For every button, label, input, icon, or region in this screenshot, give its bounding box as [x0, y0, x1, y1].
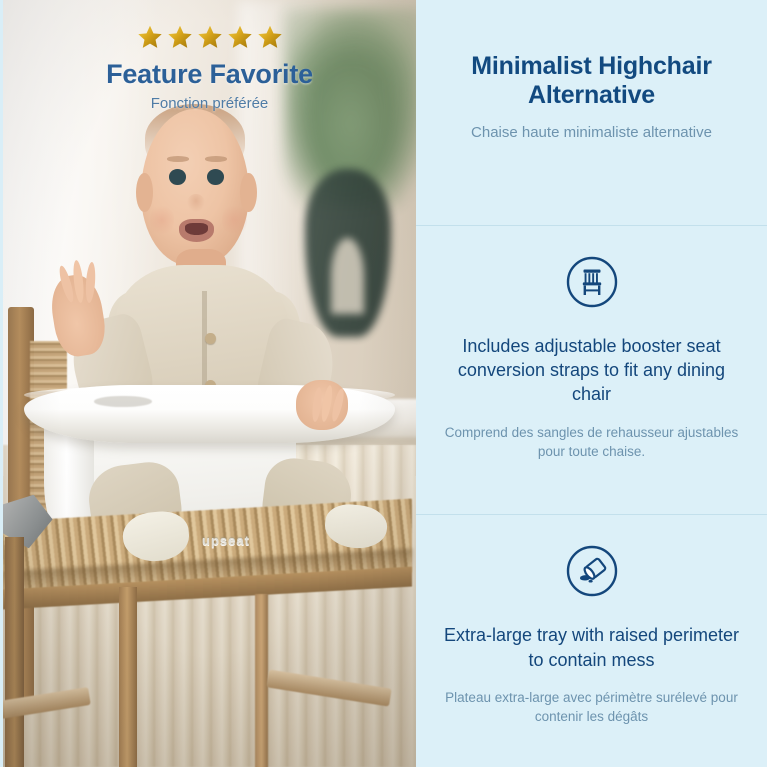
product-feature-card: upseat: [0, 0, 767, 767]
feature-text-en: Extra-large tray with raised perimeter t…: [436, 623, 747, 672]
badge-title-en: Feature Favorite: [3, 60, 416, 90]
feature-text-fr: Comprend des sangles de rehausseur ajust…: [436, 423, 747, 461]
page-subtitle-fr: Chaise haute minimaliste alternative: [471, 124, 712, 142]
star-icon: [197, 24, 223, 50]
product-photo-panel: upseat: [0, 0, 416, 767]
star-icon: [227, 24, 253, 50]
feature-block-large-tray: Extra-large tray with raised perimeter t…: [416, 515, 767, 767]
info-header: Minimalist Highchair Alternative Chaise …: [416, 0, 767, 225]
feature-text-en: Includes adjustable booster seat convers…: [436, 334, 747, 407]
dining-chair-icon: [566, 256, 618, 308]
spilled-cup-icon: [566, 545, 618, 597]
feature-block-booster-straps: Includes adjustable booster seat convers…: [416, 226, 767, 515]
star-rating: [3, 24, 416, 50]
baby-in-booster-seat-photo: upseat: [3, 0, 416, 767]
page-title: Minimalist Highchair Alternative: [438, 52, 745, 110]
product-info-panel: Minimalist Highchair Alternative Chaise …: [416, 0, 767, 767]
star-icon: [257, 24, 283, 50]
feature-text-fr: Plateau extra-large avec périmètre surél…: [436, 688, 747, 726]
feature-favorite-badge: Feature Favorite Fonction préférée: [3, 24, 416, 112]
star-icon: [167, 24, 193, 50]
star-icon: [137, 24, 163, 50]
badge-title-fr: Fonction préférée: [3, 96, 416, 113]
photo-vignette: [3, 0, 416, 767]
